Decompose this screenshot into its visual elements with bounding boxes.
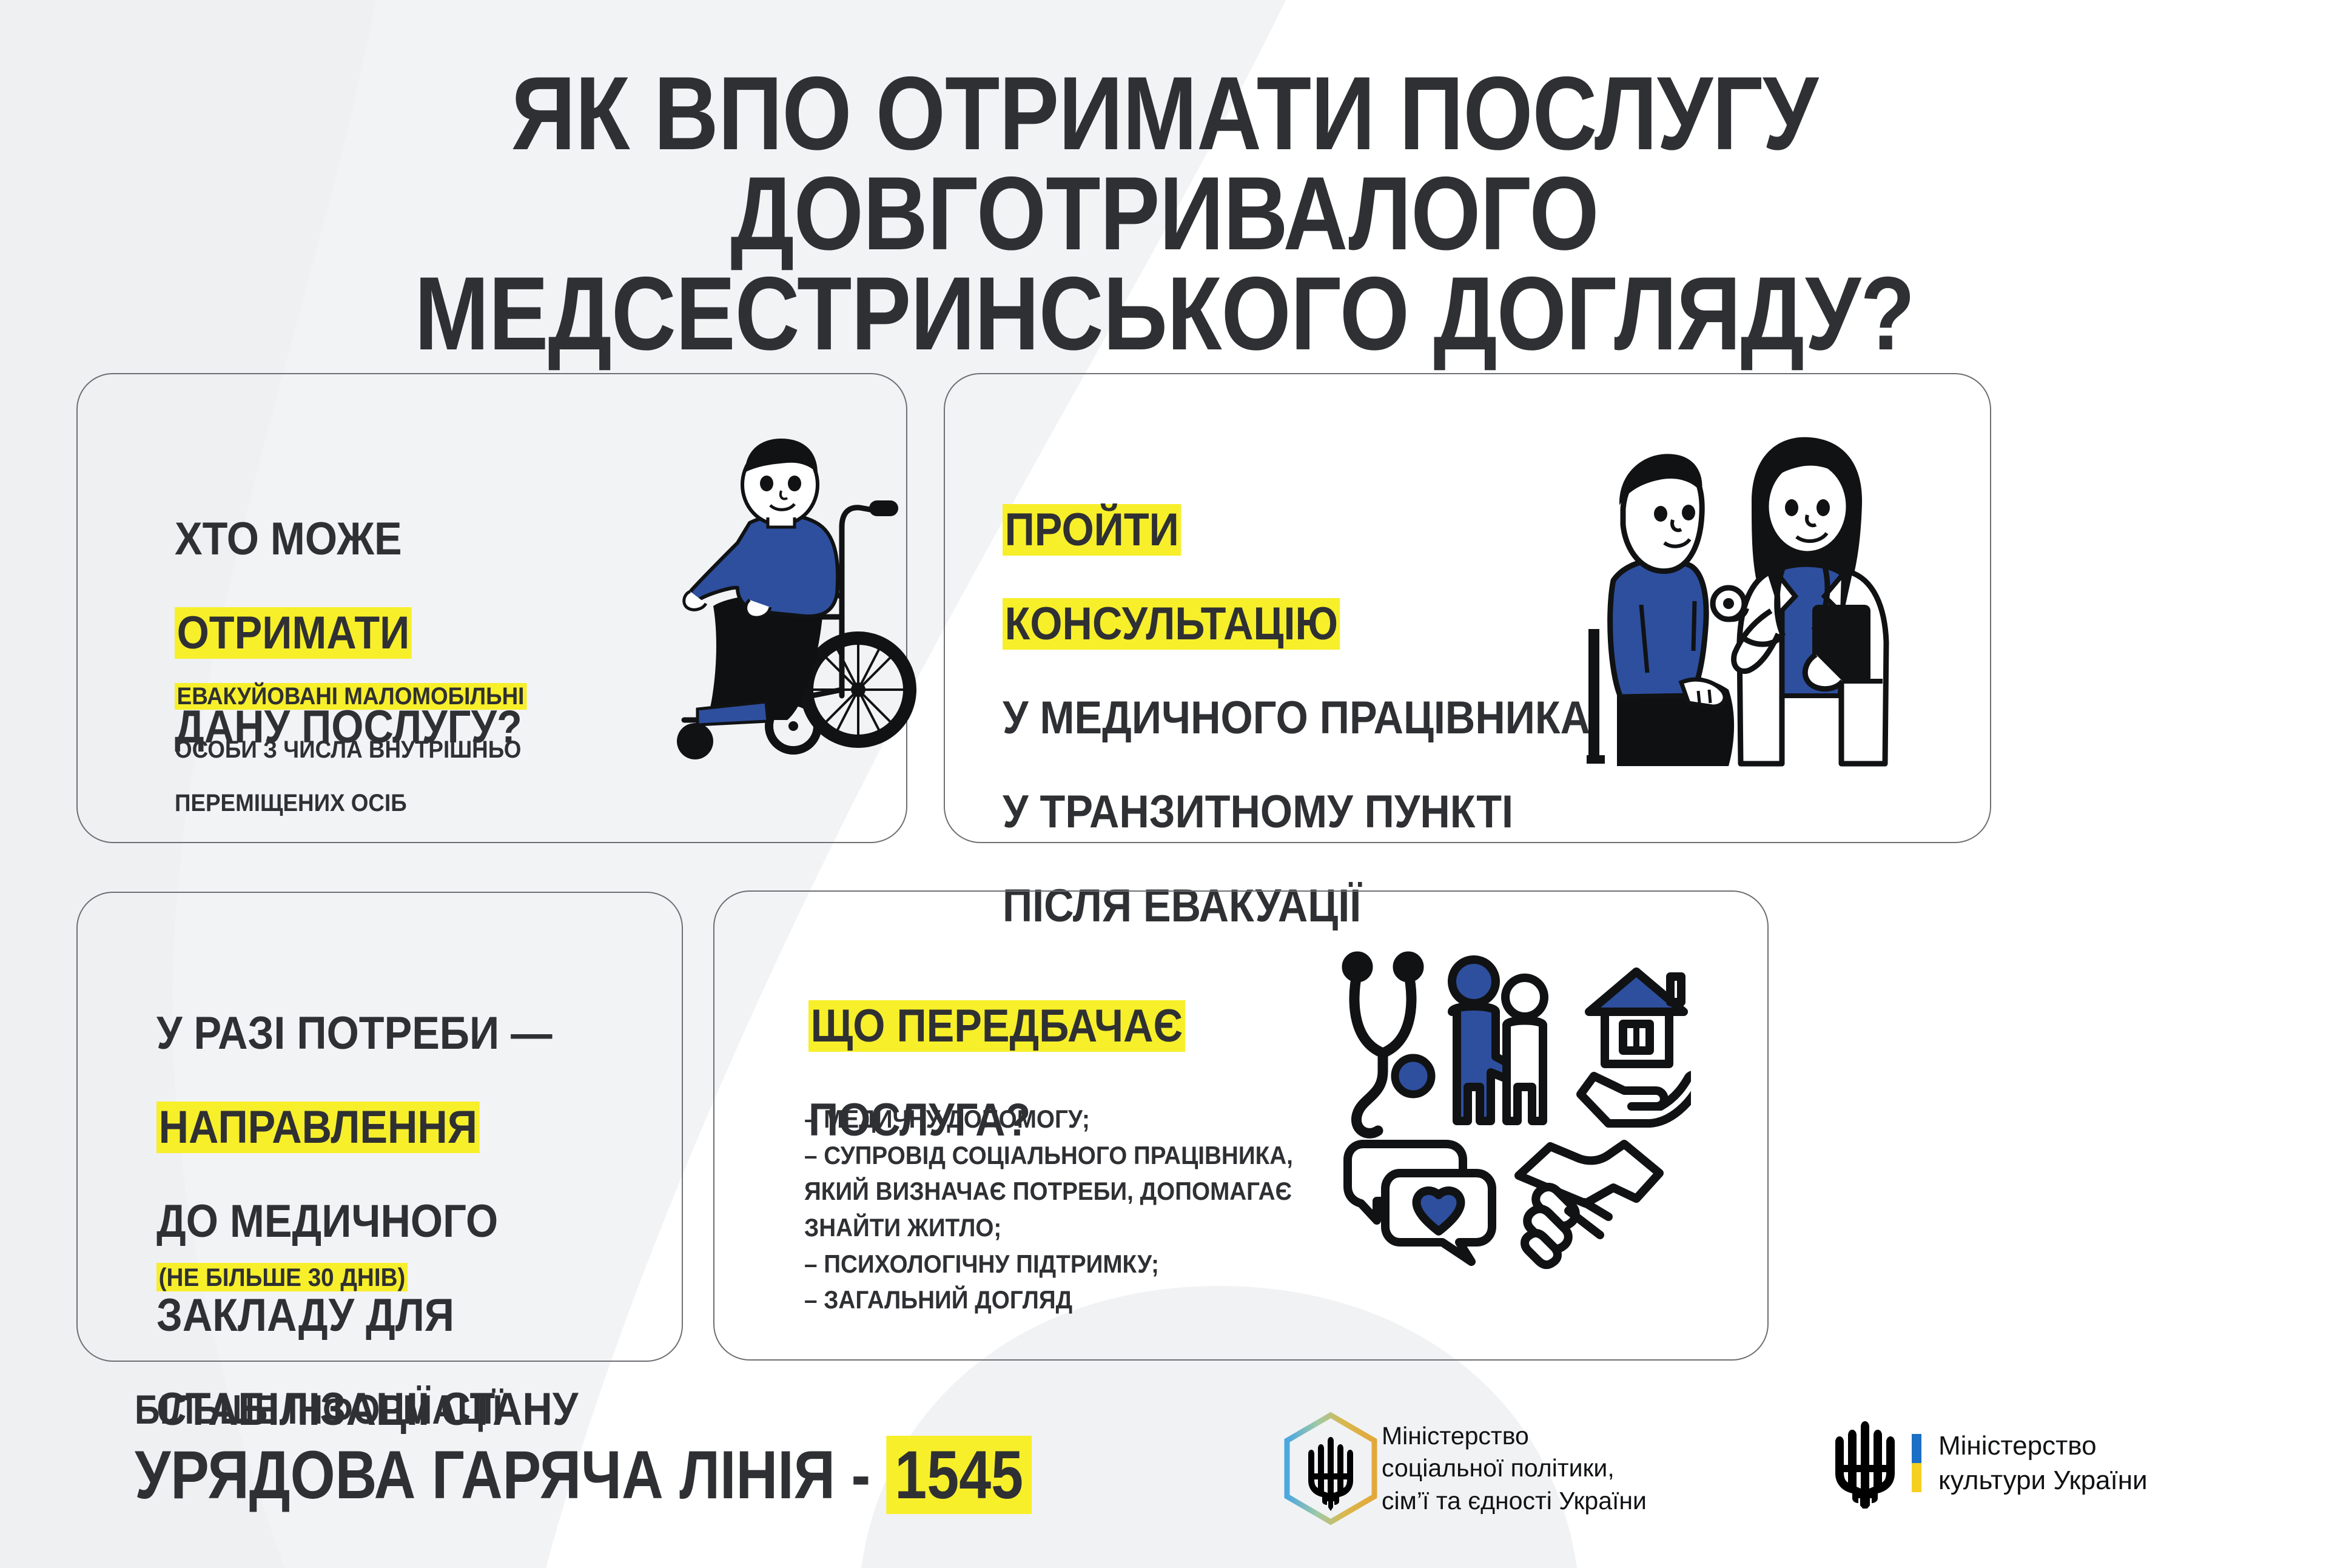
consultation-heading-line3: У МЕДИЧНОГО ПРАЦІВНИКА	[1003, 695, 1590, 742]
list-item: – ПСИХОЛОГІЧНУ ПІДТРИМКУ;	[804, 1246, 1293, 1282]
list-item: – МЕДИЧНУ ДОПОМОГУ;	[804, 1101, 1293, 1137]
hotline-label: УРЯДОВА ГАРЯЧА ЛІНІЯ -	[135, 1437, 887, 1513]
consultation-heading-line2-highlight: КОНСУЛЬТАЦІЮ	[1003, 598, 1340, 650]
referral-heading-line4: ЗАКЛАДУ ДЛЯ	[156, 1292, 578, 1339]
person-in-wheelchair-illustration	[660, 435, 921, 762]
hotline-block: БІЛЬШЕ ІНФОРМАЦІЇ УРЯДОВА ГАРЯЧА ЛІНІЯ -…	[135, 1389, 1190, 1509]
referral-heading-line1: У РАЗІ ПОТРЕБИ —	[156, 1010, 578, 1057]
referral-note-highlight: (НЕ БІЛЬШЕ 30 ДНІВ)	[156, 1263, 408, 1291]
ukraine-trident-emblem	[1832, 1418, 1898, 1509]
handshake-icon	[1519, 1144, 1659, 1265]
card-eligibility: ХТО МОЖЕ ОТРИМАТИ ДАНУ ПОСЛУГУ? ЕВАКУЙОВ…	[76, 373, 907, 843]
list-item: – СУПРОВІД СОЦІАЛЬНОГО ПРАЦІВНИКА, ЯКИЙ …	[804, 1137, 1293, 1246]
stethoscope-icon	[1347, 957, 1431, 1133]
footer: БІЛЬШЕ ІНФОРМАЦІЇ УРЯДОВА ГАРЯЧА ЛІНІЯ -…	[0, 1374, 2329, 1568]
includes-heading-line1-highlight: ЩО ПЕРЕДБАЧАЄ	[808, 1000, 1185, 1052]
hotline-number: 1545	[887, 1436, 1032, 1514]
eligibility-note: ЕВАКУЙОВАНІ МАЛОМОБІЛЬНІ ОСОБИ З ЧИСЛА В…	[175, 656, 526, 843]
referral-heading-line2-highlight: НАПРАВЛЕННЯ	[156, 1102, 480, 1153]
list-item: – ЗАГАЛЬНИЙ ДОГЛЯД	[804, 1282, 1293, 1318]
consultation-heading-line4: У ТРАНЗИТНОМУ ПУНКТІ	[1003, 789, 1590, 836]
eligibility-note-line3: ПЕРЕМІЩЕНИХ ОСІБ	[175, 790, 526, 816]
card-consultation: ПРОЙТИ КОНСУЛЬТАЦІЮ У МЕДИЧНОГО ПРАЦІВНИ…	[944, 373, 1991, 843]
two-people-support-icon	[1452, 960, 1544, 1121]
ministry-of-culture-label: Міністерство культури України	[1938, 1428, 2148, 1498]
house-in-hand-icon	[1581, 972, 1691, 1123]
consultation-heading-line1-highlight: ПРОЙТИ	[1003, 504, 1181, 556]
ukraine-flag-bar	[1912, 1434, 1921, 1492]
eligibility-heading-line2-highlight: ОТРИМАТИ	[175, 607, 412, 659]
doctor-examining-patient-illustration	[1570, 429, 1934, 769]
includes-list: – МЕДИЧНУ ДОПОМОГУ; – СУПРОВІД СОЦІАЛЬНО…	[804, 1101, 1293, 1318]
page-title: ЯК ВПО ОТРИМАТИ ПОСЛУГУ ДОВГОТРИВАЛОГО М…	[163, 64, 2166, 364]
ukraine-trident-hexagon-emblem	[1280, 1410, 1382, 1527]
ministry-of-social-policy-logo[interactable]: Міністерство соціальної політики, сім’ї …	[1280, 1410, 1647, 1527]
speech-bubbles-heart-icon	[1348, 1144, 1492, 1262]
service-icons-group	[1339, 946, 1691, 1286]
card-service-includes: ЩО ПЕРЕДБАЧАЄ ПОСЛУГА? – МЕДИЧНУ ДОПОМОГ…	[713, 890, 1769, 1361]
referral-note: (НЕ БІЛЬШЕ 30 ДНІВ)	[156, 1236, 408, 1291]
ministry-of-social-policy-label: Міністерство соціальної політики, сім’ї …	[1382, 1420, 1647, 1517]
ministry-of-culture-logo[interactable]: Міністерство культури України	[1832, 1418, 2148, 1509]
card-referral: У РАЗІ ПОТРЕБИ — НАПРАВЛЕННЯ ДО МЕДИЧНОГ…	[76, 892, 683, 1362]
hotline-line: УРЯДОВА ГАРЯЧА ЛІНІЯ - 1545	[135, 1441, 1032, 1509]
eligibility-note-line2: ОСОБИ З ЧИСЛА ВНУТРІШНЬО	[175, 736, 526, 763]
eligibility-heading-line1: ХТО МОЖЕ	[175, 516, 522, 563]
more-info-label: БІЛЬШЕ ІНФОРМАЦІЇ	[135, 1389, 1032, 1430]
eligibility-note-line1-highlight: ЕВАКУЙОВАНІ МАЛОМОБІЛЬНІ	[175, 683, 526, 710]
